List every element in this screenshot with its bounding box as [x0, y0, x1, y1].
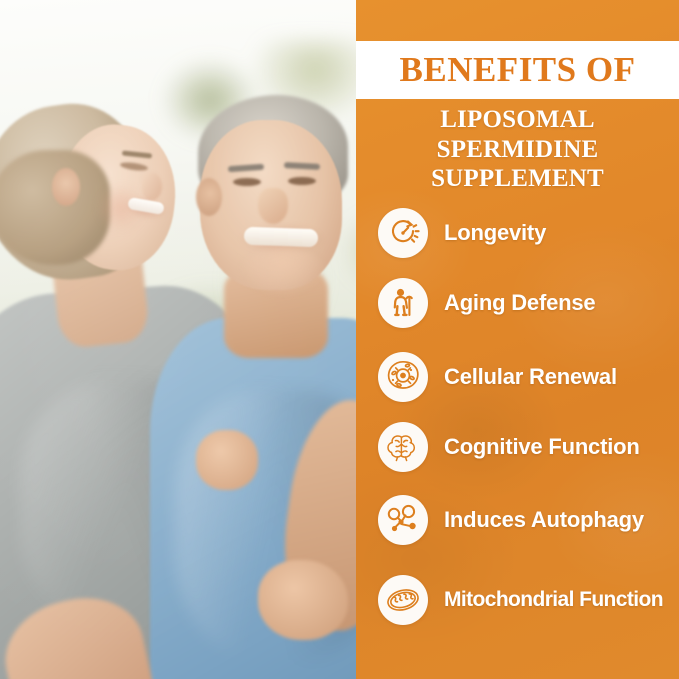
benefit-item-mitochondrial-function: Mitochondrial Function: [378, 575, 663, 625]
benefits-list: Longevity Aging Defense: [356, 0, 679, 679]
mitochondria-icon: [378, 575, 428, 625]
cell-nucleus-icon: [378, 352, 428, 402]
benefit-label: Aging Defense: [444, 290, 595, 316]
elderly-person-cane-icon: [378, 278, 428, 328]
benefit-item-cognitive-function: Cognitive Function: [378, 422, 640, 472]
stopwatch-icon: [378, 208, 428, 258]
benefit-label: Induces Autophagy: [444, 507, 644, 533]
photo-soft-light-overlay: [0, 0, 356, 679]
benefit-label: Cellular Renewal: [444, 364, 617, 390]
benefit-item-aging-defense: Aging Defense: [378, 278, 595, 328]
benefit-label: Mitochondrial Function: [444, 588, 663, 612]
benefits-panel: BENEFITS OF LIPOSOMAL SPERMIDINE SUPPLEM…: [356, 0, 679, 679]
molecule-nodes-icon: [378, 495, 428, 545]
benefit-label: Longevity: [444, 220, 546, 246]
brain-icon: [378, 422, 428, 472]
benefit-item-induces-autophagy: Induces Autophagy: [378, 495, 644, 545]
benefit-item-longevity: Longevity: [378, 208, 546, 258]
product-benefits-infographic: BENEFITS OF LIPOSOMAL SPERMIDINE SUPPLEM…: [0, 0, 679, 679]
lifestyle-photo: [0, 0, 356, 679]
benefit-label: Cognitive Function: [444, 434, 640, 460]
benefit-item-cellular-renewal: Cellular Renewal: [378, 352, 617, 402]
